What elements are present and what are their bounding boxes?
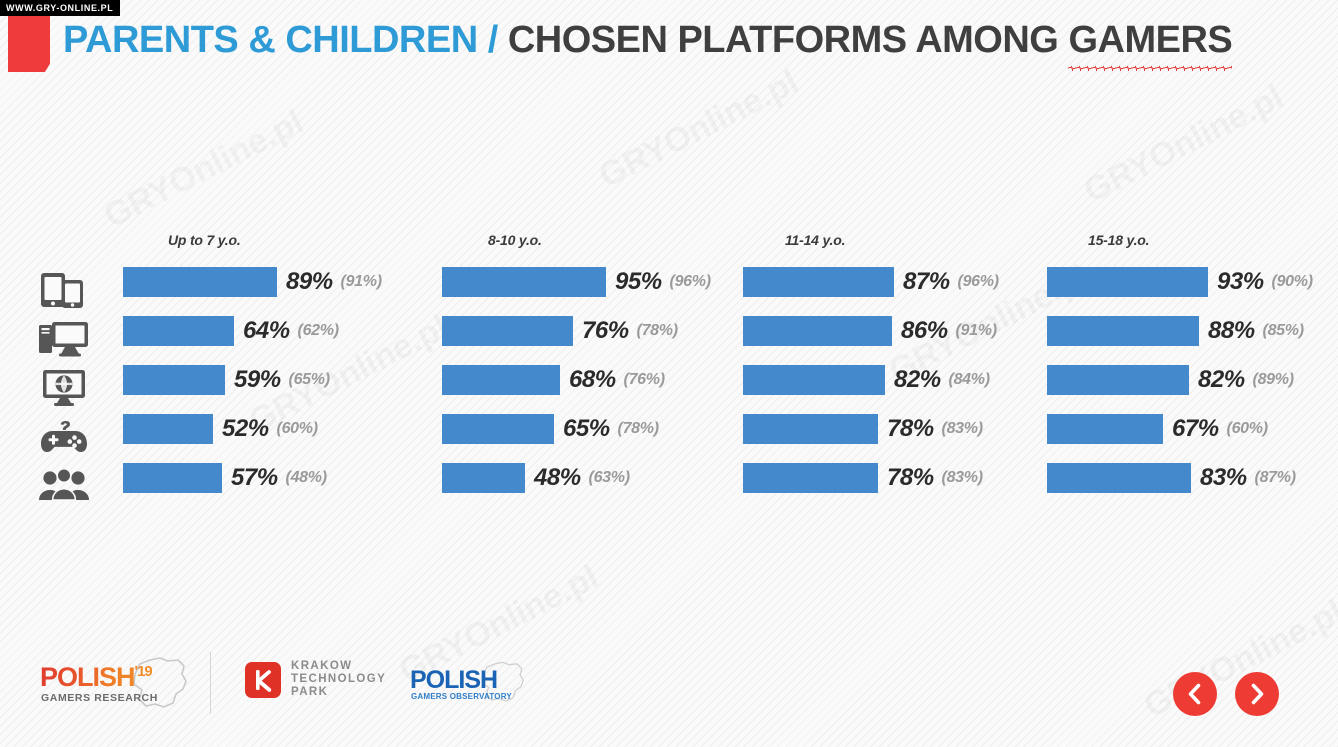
bar-value-secondary: (96%) xyxy=(670,273,711,291)
bar-value-primary: 86% xyxy=(901,317,948,345)
bar-pc-desktop xyxy=(743,316,892,346)
title-rest-line1: CHOSEN PLATFORMS AMONG xyxy=(508,19,1059,61)
bar-value-labels: 93%(90%) xyxy=(1217,265,1313,299)
page-title: PARENTS & CHILDREN / CHOSEN PLATFORMS AM… xyxy=(63,16,1243,65)
chart-row: 76%(78%) xyxy=(442,314,748,363)
bar-web-browser xyxy=(123,365,225,395)
bar-social-group xyxy=(442,463,525,493)
title-separator xyxy=(478,19,488,61)
bar-value-secondary: (87%) xyxy=(1255,469,1296,487)
bar-value-secondary: (60%) xyxy=(277,420,318,438)
chart-row: 86%(91%) xyxy=(743,314,1049,363)
pgo-logo-subtitle: GAMERS OBSERVATORY xyxy=(411,692,512,701)
bar-value-primary: 68% xyxy=(569,366,616,394)
bar-value-labels: 65%(78%) xyxy=(563,412,659,446)
bar-value-labels: 89%(91%) xyxy=(286,265,382,299)
pgr-logo-subtitle: GAMERS RESEARCH xyxy=(41,692,158,704)
site-url-badge: WWW.GRY-ONLINE.PL xyxy=(0,0,120,16)
bar-value-secondary: (76%) xyxy=(624,371,665,389)
platform-icon-column xyxy=(38,265,90,510)
bar-value-primary: 82% xyxy=(894,366,941,394)
bar-value-primary: 95% xyxy=(615,268,662,296)
chart-row: 83%(87%) xyxy=(1047,461,1338,510)
title-space xyxy=(498,19,508,61)
logo-polish-gamers-observatory: POLISH GAMERS OBSERVATORY xyxy=(410,656,520,712)
title-highlight: PARENTS & CHILDREN xyxy=(63,19,478,61)
bar-value-secondary: (90%) xyxy=(1272,273,1313,291)
bar-value-labels: 64%(62%) xyxy=(243,314,339,348)
bar-value-secondary: (84%) xyxy=(949,371,990,389)
desktop-pc-icon xyxy=(38,314,90,363)
bar-value-labels: 48%(63%) xyxy=(534,461,630,495)
bar-smartphone-tablet xyxy=(743,267,894,297)
group-rows: 89%(91%)64%(62%)59%(65%)52%(60%)57%(48%) xyxy=(123,265,429,510)
chart-row: 93%(90%) xyxy=(1047,265,1338,314)
bar-value-primary: 67% xyxy=(1172,415,1219,443)
ktp-line-3: PARK xyxy=(291,686,386,699)
bar-value-secondary: (83%) xyxy=(942,469,983,487)
chart-row: 68%(76%) xyxy=(442,363,748,412)
bar-value-primary: 83% xyxy=(1200,464,1247,492)
bar-value-primary: 82% xyxy=(1198,366,1245,394)
ktp-line-2: TECHNOLOGY xyxy=(291,673,386,686)
bar-console-gamepad xyxy=(743,414,878,444)
group-rows: 93%(90%)88%(85%)82%(89%)67%(60%)83%(87%) xyxy=(1047,265,1338,510)
bar-value-primary: 87% xyxy=(903,268,950,296)
group-header-label: 8-10 y.o. xyxy=(488,232,542,248)
bar-value-primary: 78% xyxy=(887,415,934,443)
watermark: GRYOnline.pl xyxy=(593,63,805,197)
bar-value-labels: 57%(48%) xyxy=(231,461,327,495)
bar-value-secondary: (85%) xyxy=(1263,322,1304,340)
footer: POLISH'19 GAMERS RESEARCH KRAKOW TECHNOL… xyxy=(0,642,1338,747)
bar-value-primary: 78% xyxy=(887,464,934,492)
chart-row: 88%(85%) xyxy=(1047,314,1338,363)
chart-row: 82%(84%) xyxy=(743,363,1049,412)
chart-row: 59%(65%) xyxy=(123,363,429,412)
bar-console-gamepad xyxy=(442,414,554,444)
bar-value-secondary: (91%) xyxy=(956,322,997,340)
bar-value-secondary: (48%) xyxy=(286,469,327,487)
web-browser-globe-icon xyxy=(38,363,90,412)
bar-web-browser xyxy=(1047,365,1189,395)
bar-value-primary: 59% xyxy=(234,366,281,394)
ktp-k-mark-icon xyxy=(245,662,281,698)
bar-value-secondary: (96%) xyxy=(958,273,999,291)
bar-value-labels: 87%(96%) xyxy=(903,265,999,299)
bar-pc-desktop xyxy=(442,316,573,346)
bar-value-labels: 78%(83%) xyxy=(887,461,983,495)
bar-value-labels: 76%(78%) xyxy=(582,314,678,348)
bar-value-secondary: (63%) xyxy=(589,469,630,487)
group-rows: 87%(96%)86%(91%)82%(84%)78%(83%)78%(83%) xyxy=(743,265,1049,510)
bar-console-gamepad xyxy=(1047,414,1163,444)
group-header-label: Up to 7 y.o. xyxy=(168,232,241,248)
chart-row: 65%(78%) xyxy=(442,412,748,461)
bar-value-labels: 82%(84%) xyxy=(894,363,990,397)
chart-row: 89%(91%) xyxy=(123,265,429,314)
chart-row: 57%(48%) xyxy=(123,461,429,510)
bar-console-gamepad xyxy=(123,414,213,444)
chart-row: 78%(83%) xyxy=(743,461,1049,510)
bar-social-group xyxy=(123,463,222,493)
footer-divider xyxy=(210,652,211,714)
bar-value-secondary: (89%) xyxy=(1253,371,1294,389)
bar-web-browser xyxy=(442,365,560,395)
bar-value-primary: 48% xyxy=(534,464,581,492)
bar-smartphone-tablet xyxy=(442,267,606,297)
chart-row: 95%(96%) xyxy=(442,265,748,314)
bar-value-labels: 95%(96%) xyxy=(615,265,711,299)
bar-value-secondary: (62%) xyxy=(298,322,339,340)
group-rows: 95%(96%)76%(78%)68%(76%)65%(78%)48%(63%) xyxy=(442,265,748,510)
bar-value-labels: 83%(87%) xyxy=(1200,461,1296,495)
chart-row: 82%(89%) xyxy=(1047,363,1338,412)
bar-value-labels: 59%(65%) xyxy=(234,363,330,397)
bar-value-labels: 82%(89%) xyxy=(1198,363,1294,397)
bar-smartphone-tablet xyxy=(123,267,277,297)
chart-row: 67%(60%) xyxy=(1047,412,1338,461)
watermark: GRYOnline.pl xyxy=(1078,78,1290,212)
title-rest-line2: GAMERS xyxy=(1068,16,1232,65)
group-header-label: 11-14 y.o. xyxy=(785,232,845,248)
bar-value-secondary: (91%) xyxy=(341,273,382,291)
bar-value-secondary: (83%) xyxy=(942,420,983,438)
bar-social-group xyxy=(1047,463,1191,493)
logo-krakow-technology-park: KRAKOW TECHNOLOGY PARK xyxy=(245,660,386,699)
chart-row: 52%(60%) xyxy=(123,412,429,461)
bar-pc-desktop xyxy=(1047,316,1199,346)
bar-value-labels: 52%(60%) xyxy=(222,412,318,446)
bar-value-secondary: (78%) xyxy=(618,420,659,438)
red-corner-mark xyxy=(8,12,50,72)
bar-pc-desktop xyxy=(123,316,234,346)
bar-value-primary: 93% xyxy=(1217,268,1264,296)
bar-value-primary: 65% xyxy=(563,415,610,443)
bar-web-browser xyxy=(743,365,885,395)
ktp-logo-text: KRAKOW TECHNOLOGY PARK xyxy=(291,660,386,699)
bar-smartphone-tablet xyxy=(1047,267,1208,297)
bar-value-labels: 88%(85%) xyxy=(1208,314,1304,348)
pgr-logo-year: '19 xyxy=(135,663,152,680)
people-group-icon xyxy=(38,461,90,510)
watermark: GRYOnline.pl xyxy=(98,103,310,237)
bar-value-labels: 78%(83%) xyxy=(887,412,983,446)
bar-value-secondary: (60%) xyxy=(1227,420,1268,438)
chevron-left-icon xyxy=(1173,672,1217,716)
next-slide-button[interactable] xyxy=(1235,672,1279,716)
title-slash: / xyxy=(488,19,498,61)
bar-value-labels: 67%(60%) xyxy=(1172,412,1268,446)
bar-value-primary: 57% xyxy=(231,464,278,492)
gamepad-icon xyxy=(38,412,90,461)
ktp-line-1: KRAKOW xyxy=(291,660,386,673)
chevron-right-icon xyxy=(1235,672,1279,716)
bar-value-primary: 89% xyxy=(286,268,333,296)
chart-row: 87%(96%) xyxy=(743,265,1049,314)
bar-value-labels: 68%(76%) xyxy=(569,363,665,397)
pgr-logo-title: POLISH'19 xyxy=(40,662,152,693)
chart-row: 78%(83%) xyxy=(743,412,1049,461)
pgo-logo-title: POLISH xyxy=(410,666,497,695)
bar-value-primary: 76% xyxy=(582,317,629,345)
bar-value-primary: 64% xyxy=(243,317,290,345)
previous-slide-button[interactable] xyxy=(1173,672,1217,716)
logo-polish-gamers-research: POLISH'19 GAMERS RESEARCH xyxy=(40,654,190,714)
bar-chart: Up to 7 y.o.89%(91%)64%(62%)59%(65%)52%(… xyxy=(0,232,1338,522)
bar-value-secondary: (78%) xyxy=(637,322,678,340)
bar-value-secondary: (65%) xyxy=(289,371,330,389)
bar-value-primary: 88% xyxy=(1208,317,1255,345)
smartphone-tablet-icon xyxy=(38,265,90,314)
slide-canvas: GRYOnline.pl GRYOnline.pl GRYOnline.pl G… xyxy=(0,0,1338,747)
chart-row: 64%(62%) xyxy=(123,314,429,363)
bar-value-labels: 86%(91%) xyxy=(901,314,997,348)
bar-value-primary: 52% xyxy=(222,415,269,443)
bar-social-group xyxy=(743,463,878,493)
group-header-label: 15-18 y.o. xyxy=(1088,232,1149,248)
chart-row: 48%(63%) xyxy=(442,461,748,510)
